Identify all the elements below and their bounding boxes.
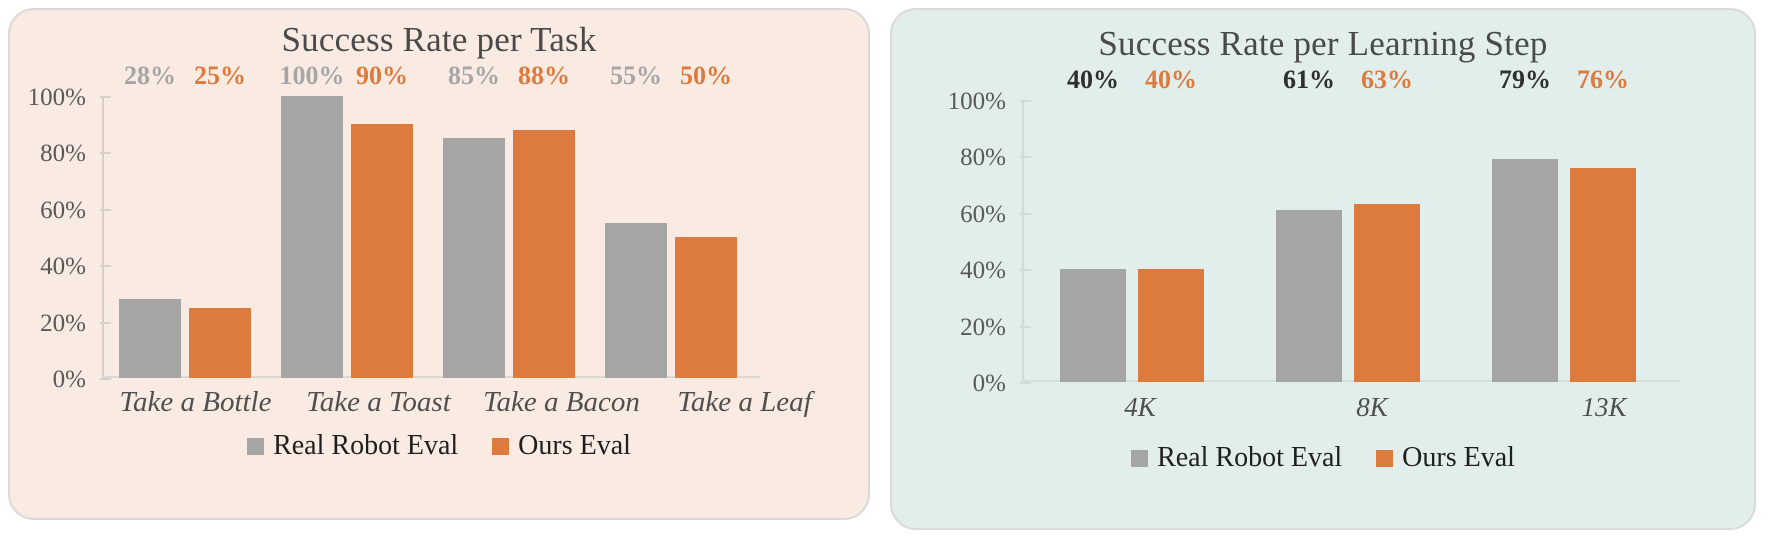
legend: Real Robot Eval Ours Eval: [10, 430, 868, 462]
category-label: 4K: [1024, 392, 1256, 423]
bar-value-label: 55%: [610, 61, 662, 91]
bar-wrapper[interactable]: 40%: [1138, 100, 1204, 382]
legend-label: Real Robot Eval: [1157, 442, 1342, 474]
legend-swatch-icon: [1131, 450, 1148, 467]
bar-wrapper[interactable]: 25%: [189, 96, 251, 378]
bar-ours[interactable]: [513, 130, 575, 378]
category-label: Take a Bottle: [104, 386, 287, 419]
bar-value-label: 50%: [680, 61, 732, 91]
category-label: Take a Bacon: [470, 386, 653, 419]
chart-panel-success-rate-per-learning-step: Success Rate per Learning Step 100% 80% …: [890, 8, 1756, 530]
legend-label: Ours Eval: [518, 430, 631, 462]
legend-item-ours-eval[interactable]: Ours Eval: [492, 430, 631, 462]
y-tick-label: 0%: [973, 370, 1006, 398]
y-tick-label: 40%: [960, 257, 1006, 285]
legend-item-real-robot-eval[interactable]: Real Robot Eval: [247, 430, 458, 462]
bar-real-robot[interactable]: [443, 138, 505, 378]
y-tick-label: 40%: [40, 253, 86, 281]
bar-wrapper[interactable]: 79%: [1492, 100, 1558, 382]
plot-area: 100% 80% 60% 40% 20% 0% 40%: [1022, 100, 1672, 382]
bar-value-label: 85%: [448, 61, 500, 91]
legend: Real Robot Eval Ours Eval: [892, 442, 1754, 474]
bar-wrapper[interactable]: 50%: [675, 96, 737, 378]
chart-title: Success Rate per Task: [10, 20, 868, 60]
bar-wrapper[interactable]: 76%: [1570, 100, 1636, 382]
bar-ours[interactable]: [1354, 204, 1420, 382]
bar-real-robot[interactable]: [1492, 159, 1558, 382]
bar-wrapper[interactable]: 88%: [513, 96, 575, 378]
category-label: 8K: [1256, 392, 1488, 423]
bar-wrapper[interactable]: 61%: [1276, 100, 1342, 382]
bar-group: 85% 88%: [428, 96, 590, 378]
bar-groups: 28% 25% 100% 90%: [104, 96, 752, 378]
bar-real-robot[interactable]: [119, 299, 181, 378]
bar-value-label: 76%: [1577, 65, 1629, 95]
bar-wrapper[interactable]: 28%: [119, 96, 181, 378]
bar-value-label: 40%: [1067, 65, 1119, 95]
legend-item-real-robot-eval[interactable]: Real Robot Eval: [1131, 442, 1342, 474]
bar-value-label: 100%: [280, 61, 345, 91]
bar-ours[interactable]: [1138, 269, 1204, 382]
legend-swatch-icon: [492, 438, 509, 455]
bar-value-label: 88%: [518, 61, 570, 91]
bar-wrapper[interactable]: 90%: [351, 96, 413, 378]
y-tick-label: 20%: [960, 314, 1006, 342]
bar-value-label: 61%: [1283, 65, 1335, 95]
category-labels: 4K 8K 13K: [1024, 392, 1720, 423]
y-tick-label: 100%: [948, 88, 1006, 116]
category-label: Take a Leaf: [653, 386, 836, 419]
bar-ours[interactable]: [351, 124, 413, 378]
bar-value-label: 28%: [124, 61, 176, 91]
bar-value-label: 63%: [1361, 65, 1413, 95]
y-tick-label: 80%: [960, 144, 1006, 172]
category-label: 13K: [1488, 392, 1720, 423]
bar-group: 28% 25%: [104, 96, 266, 378]
plot-area: 100% 80% 60% 40% 20% 0% 28%: [102, 96, 752, 378]
bar-real-robot[interactable]: [605, 223, 667, 378]
bar-group: 55% 50%: [590, 96, 752, 378]
y-tick-label: 100%: [28, 84, 86, 112]
bar-group: 40% 40%: [1024, 100, 1240, 382]
y-tick-label: 60%: [960, 201, 1006, 229]
y-tick: 0%: [1020, 382, 1031, 384]
figure-container: Success Rate per Task 100% 80% 60% 40% 2…: [0, 0, 1774, 550]
bar-real-robot[interactable]: [281, 96, 343, 378]
bar-ours[interactable]: [189, 308, 251, 379]
bar-groups: 40% 40% 61% 63%: [1024, 100, 1672, 382]
bar-value-label: 79%: [1499, 65, 1551, 95]
category-label: Take a Toast: [287, 386, 470, 419]
legend-label: Real Robot Eval: [273, 430, 458, 462]
legend-swatch-icon: [247, 438, 264, 455]
legend-item-ours-eval[interactable]: Ours Eval: [1376, 442, 1515, 474]
bar-wrapper[interactable]: 85%: [443, 96, 505, 378]
chart-panel-success-rate-per-task: Success Rate per Task 100% 80% 60% 40% 2…: [8, 8, 870, 520]
bar-wrapper[interactable]: 100%: [281, 96, 343, 378]
y-tick-label: 60%: [40, 197, 86, 225]
bar-group: 100% 90%: [266, 96, 428, 378]
bar-wrapper[interactable]: 55%: [605, 96, 667, 378]
bar-ours[interactable]: [1570, 168, 1636, 382]
bar-ours[interactable]: [675, 237, 737, 378]
bar-group: 79% 76%: [1456, 100, 1672, 382]
bar-value-label: 40%: [1145, 65, 1197, 95]
bar-wrapper[interactable]: 40%: [1060, 100, 1126, 382]
bar-real-robot[interactable]: [1276, 210, 1342, 382]
bar-real-robot[interactable]: [1060, 269, 1126, 382]
legend-swatch-icon: [1376, 450, 1393, 467]
bar-value-label: 90%: [356, 61, 408, 91]
y-tick-label: 0%: [53, 366, 86, 394]
category-labels: Take a Bottle Take a Toast Take a Bacon …: [104, 386, 836, 419]
y-tick-label: 20%: [40, 310, 86, 338]
legend-label: Ours Eval: [1402, 442, 1515, 474]
y-tick: 0%: [100, 378, 111, 380]
bar-value-label: 25%: [194, 61, 246, 91]
bar-wrapper[interactable]: 63%: [1354, 100, 1420, 382]
chart-title: Success Rate per Learning Step: [892, 24, 1754, 64]
bar-group: 61% 63%: [1240, 100, 1456, 382]
y-tick-label: 80%: [40, 140, 86, 168]
